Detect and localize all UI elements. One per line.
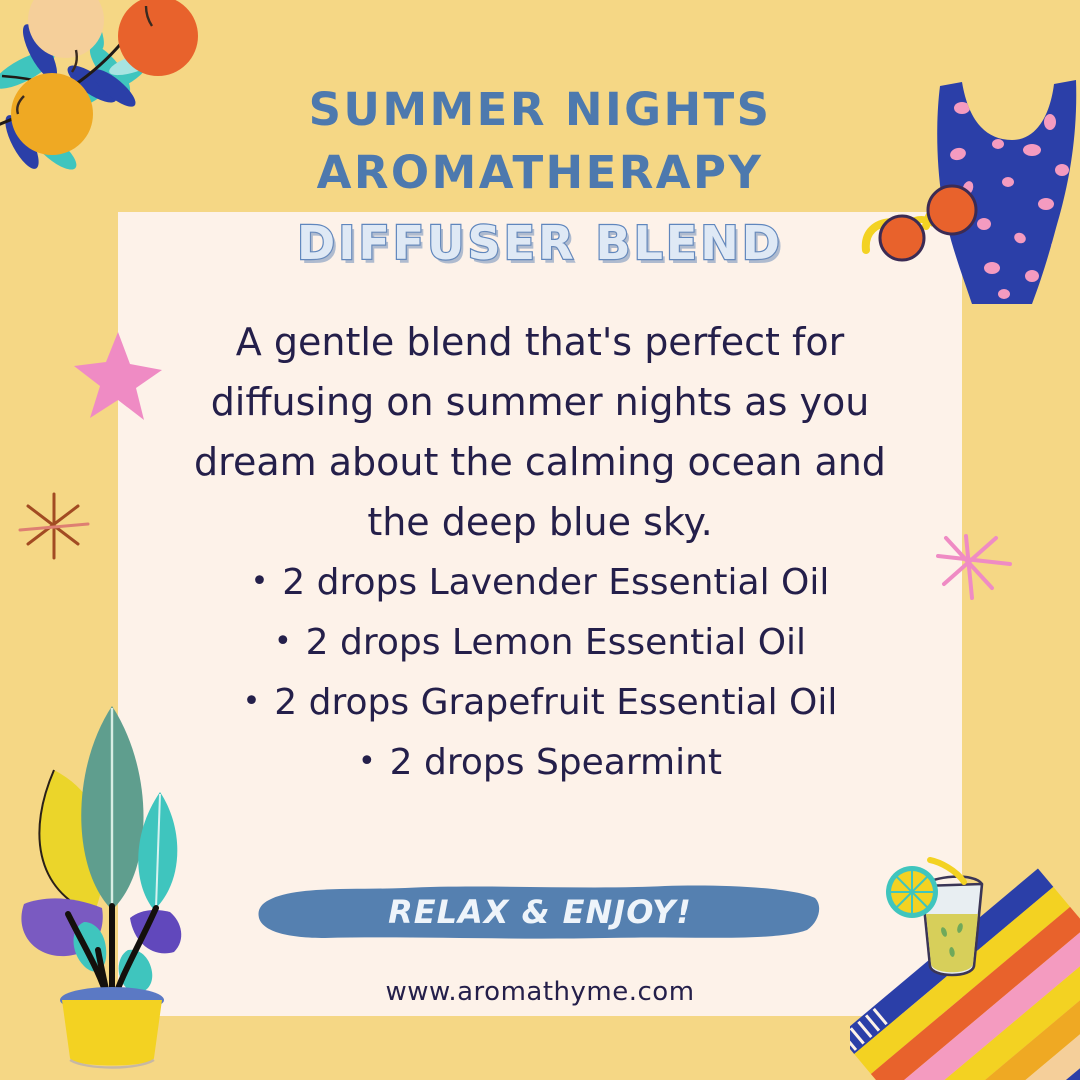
bullet-icon: • <box>358 732 376 791</box>
description-line: A gentle blend that's perfect for <box>160 312 920 372</box>
list-item: •2 drops Grapefruit Essential Oil <box>190 672 890 732</box>
bullet-icon: • <box>243 672 261 731</box>
relax-and-enjoy-button[interactable]: RELAX & ENJOY! <box>255 878 825 946</box>
potted-plant-illustration <box>8 700 218 1080</box>
pink-sparkle-icon <box>930 522 1020 612</box>
bullet-icon: • <box>274 612 292 671</box>
pink-star-icon <box>72 330 164 422</box>
poster-canvas: SUMMER NIGHTS AROMATHERAPY DIFFUSER BLEN… <box>0 0 1080 1080</box>
citrus-branch-illustration <box>0 0 244 222</box>
bullet-icon: • <box>251 552 269 611</box>
description-line: dream about the calming ocean and <box>160 432 920 492</box>
description-line: the deep blue sky. <box>160 492 920 552</box>
lemonade-glass-illustration <box>850 840 1080 1080</box>
list-item-label: 2 drops Grapefruit Essential Oil <box>274 682 837 723</box>
description-block: A gentle blend that's perfect for diffus… <box>160 312 920 552</box>
cta-label: RELAX & ENJOY! <box>255 878 825 946</box>
list-item-label: 2 drops Spearmint <box>390 742 722 783</box>
list-item-label: 2 drops Lemon Essential Oil <box>306 622 806 663</box>
list-item: •2 drops Lemon Essential Oil <box>190 612 890 672</box>
list-item-label: 2 drops Lavender Essential Oil <box>282 562 829 603</box>
website-url[interactable]: www.aromathyme.com <box>0 977 1080 1007</box>
description-line: diffusing on summer nights as you <box>160 372 920 432</box>
ingredient-list: •2 drops Lavender Essential Oil •2 drops… <box>190 552 890 792</box>
list-item: •2 drops Lavender Essential Oil <box>190 552 890 612</box>
sunglasses-illustration <box>860 176 1000 266</box>
red-sparkle-icon <box>14 486 94 566</box>
list-item: •2 drops Spearmint <box>190 732 890 792</box>
